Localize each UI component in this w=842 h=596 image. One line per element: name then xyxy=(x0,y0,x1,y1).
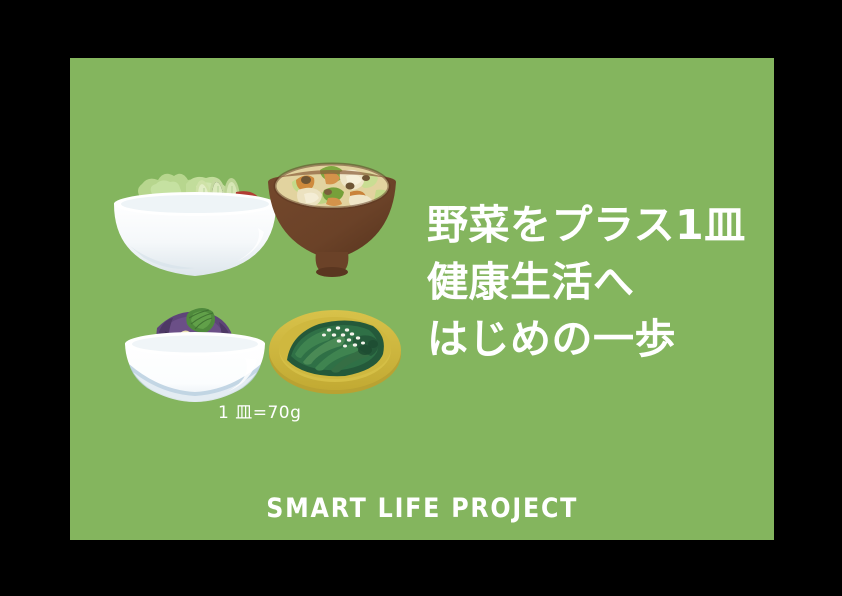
miso-soup-illustration xyxy=(262,148,402,290)
eggplant-bowl-vessel xyxy=(125,332,265,402)
brand-logo: SMART LIFE PROJECT xyxy=(70,493,774,524)
poster-root: 野菜をプラス1皿 健康生活へ はじめの一歩 1 皿=70g SMART LIFE… xyxy=(0,0,842,596)
spinach-plate-illustration xyxy=(265,298,405,400)
headline-line-3: はじめの一歩 xyxy=(427,311,757,368)
serving-size-caption: 1 皿=70g xyxy=(218,398,301,423)
poster-panel: 野菜をプラス1皿 健康生活へ はじめの一歩 1 皿=70g SMART LIFE… xyxy=(70,58,774,540)
salad-bowl-vessel xyxy=(114,192,276,276)
headline-line-2: 健康生活へ xyxy=(427,254,757,311)
brand-logo-text: SMART LIFE PROJECT xyxy=(266,493,578,524)
headline-block: 野菜をプラス1皿 健康生活へ はじめの一歩 xyxy=(427,197,757,368)
headline-line-1: 野菜をプラス1皿 xyxy=(427,197,757,254)
salad-bowl-illustration xyxy=(108,154,282,282)
eggplant-bowl-illustration xyxy=(115,298,275,408)
